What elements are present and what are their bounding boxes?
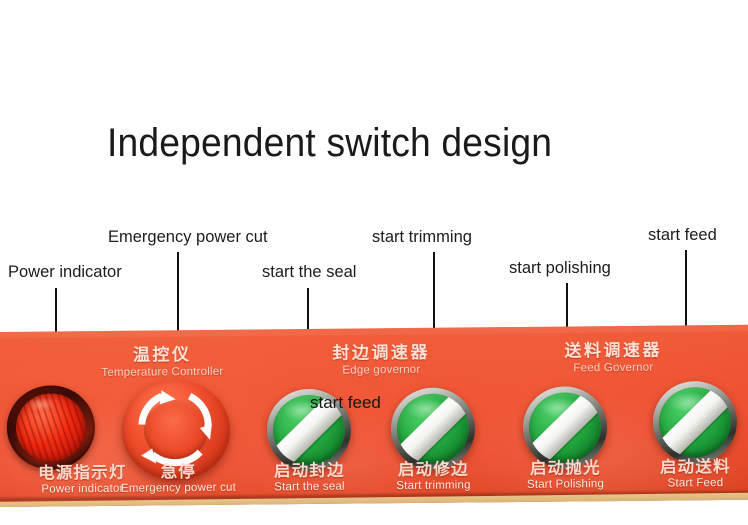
section-label-en: Edge governor: [281, 363, 481, 377]
caption-en: Start the seal: [249, 480, 369, 493]
machine-control-panel: 温控仪 Temperature Controller 封边调速器 Edge go…: [0, 325, 748, 507]
caption-en: Start trimming: [373, 479, 493, 492]
caption-en: Start Feed: [635, 477, 748, 490]
overlay-text-start-feed: start feed: [310, 393, 381, 413]
selector-face: [529, 392, 602, 463]
caption-cn: 启动封边: [274, 461, 345, 481]
caption-start-trimming: 启动修边 Start trimming: [373, 455, 493, 492]
selector-face: [397, 393, 470, 464]
caption-cn: 启动修边: [398, 459, 469, 479]
button-start-feed[interactable]: [653, 381, 738, 464]
panel-section-edge-governor: 封边调速器 Edge governor: [281, 337, 481, 377]
section-label-cn: 封边调速器: [332, 343, 430, 364]
caption-emergency-stop: 急停 Emergency power cut: [103, 458, 253, 495]
section-label-cn: 温控仪: [133, 345, 192, 366]
section-label-en: Temperature Controller: [52, 365, 272, 379]
callout-label-start-the-seal: start the seal: [262, 263, 356, 282]
panel-section-temperature-controller: 温控仪 Temperature Controller: [52, 339, 272, 379]
caption-en: Emergency power cut: [103, 482, 253, 495]
section-label-cn: 送料调速器: [564, 341, 662, 362]
callout-label-start-trimming: start trimming: [372, 228, 472, 247]
caption-cn: 急停: [161, 462, 197, 481]
callout-label-start-polishing: start polishing: [509, 259, 611, 278]
caption-start-feed: 启动送料 Start Feed: [635, 453, 748, 490]
selector-knob[interactable]: [529, 392, 602, 463]
callout-label-power-indicator: Power indicator: [8, 263, 122, 282]
screenshot-root: Independent switch design Power indicato…: [0, 0, 748, 525]
panel-section-feed-governor: 送料调速器 Feed Governor: [513, 335, 713, 375]
section-label-en: Feed Governor: [513, 361, 713, 375]
callout-label-start-feed: start feed: [648, 226, 717, 245]
page-title: Independent switch design: [107, 118, 552, 168]
caption-cn: 启动抛光: [530, 458, 601, 478]
selector-knob[interactable]: [397, 393, 470, 464]
button-power-indicator[interactable]: [7, 385, 96, 470]
caption-start-the-seal: 启动封边 Start the seal: [249, 456, 369, 493]
callout-label-emergency-power-cut: Emergency power cut: [108, 228, 268, 247]
selector-face: [659, 387, 732, 458]
caption-start-polishing: 启动抛光 Start Polishing: [505, 454, 625, 491]
caption-en: Start Polishing: [505, 478, 625, 491]
selector-knob[interactable]: [659, 387, 732, 458]
caption-cn: 启动送料: [660, 457, 731, 477]
